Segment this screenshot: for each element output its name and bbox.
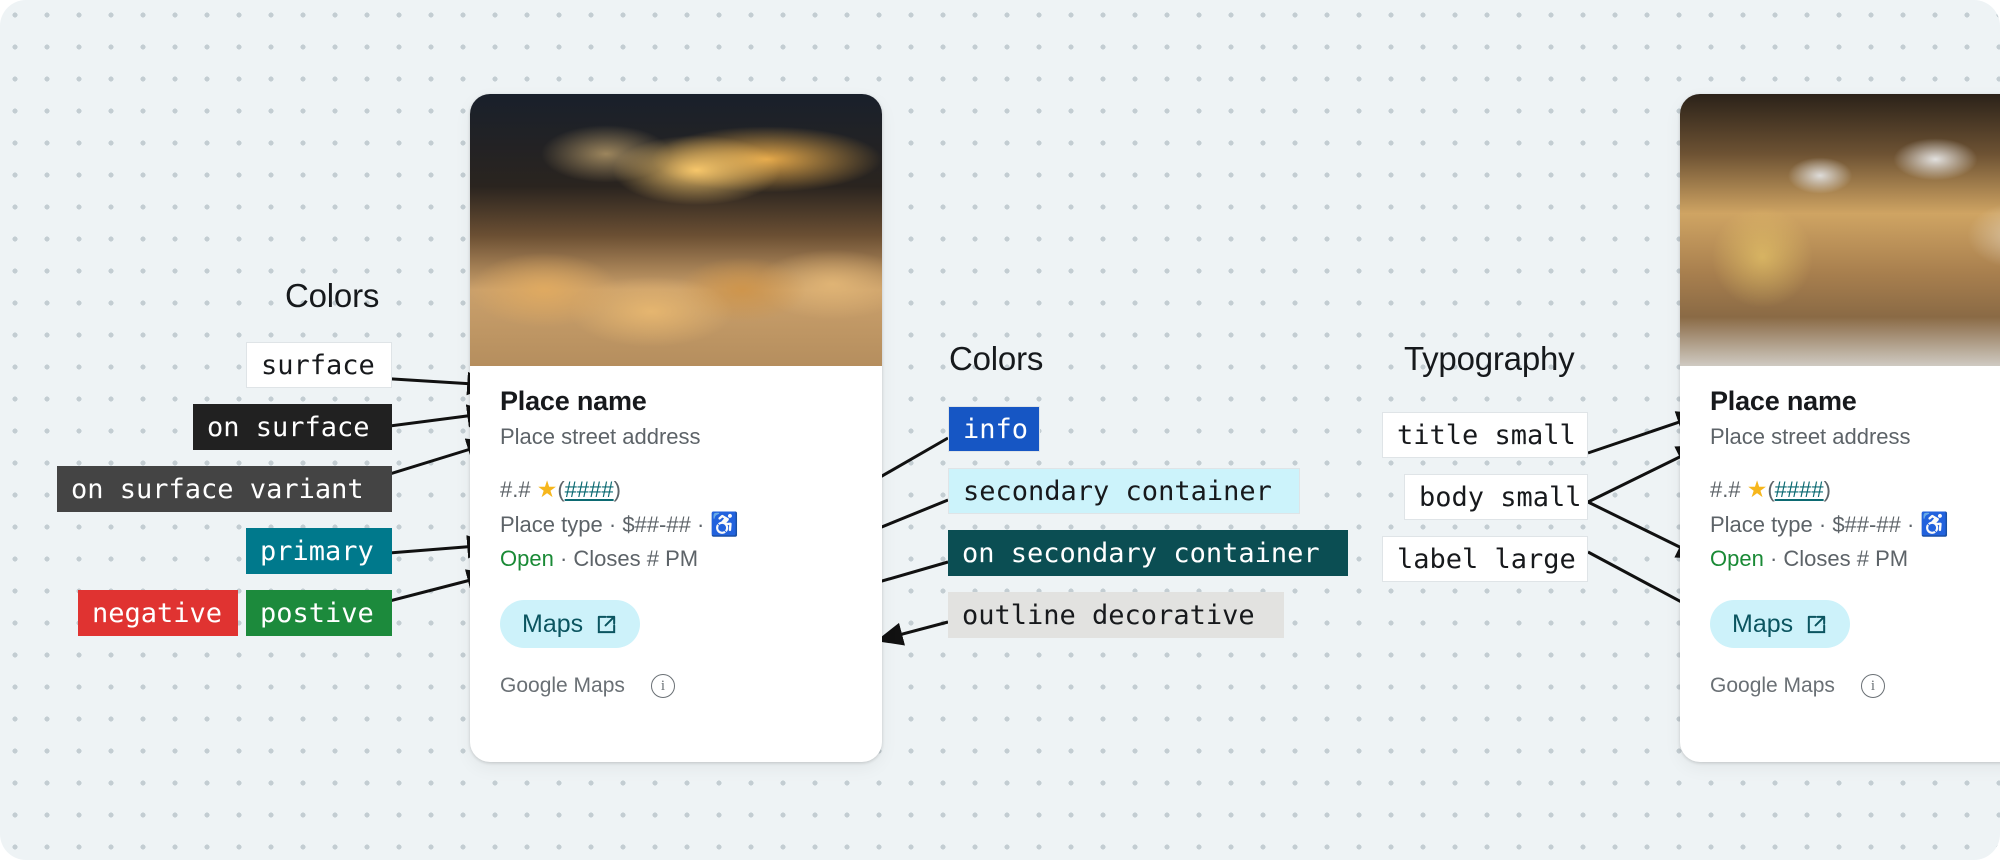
type-chip-label: label large [1397, 546, 1576, 573]
open-status: Open [1710, 546, 1764, 571]
type-chip-body-small[interactable]: body small [1404, 474, 1588, 520]
color-chip-label: postive [260, 600, 374, 627]
place-card-footer: Google Maps i [470, 648, 882, 698]
info-icon-glyph: i [1871, 679, 1875, 694]
place-address: Place street address [500, 423, 852, 452]
place-card-left: Place name Place street address #.# ★(##… [470, 94, 882, 762]
rating-value: #.# [1710, 477, 1741, 502]
wheelchair-icon: ♿ [710, 511, 739, 537]
color-chip-on-surface-variant[interactable]: on surface variant [57, 466, 392, 512]
footer-attribution: Google Maps [500, 674, 625, 698]
color-chip-label: secondary container [963, 478, 1272, 505]
type-chip-label: body small [1419, 484, 1582, 511]
color-chip-label: surface [261, 352, 375, 379]
rating-value: #.# [500, 477, 531, 502]
place-rating-row: #.# ★(####) [1710, 473, 2000, 506]
place-type-row: Place type · $##-## · ♿ [1710, 508, 2000, 541]
place-name: Place name [500, 386, 852, 418]
reviews-count-link[interactable]: #### [565, 477, 614, 502]
price-range: $##-## [1832, 512, 1901, 537]
maps-button-label: Maps [1732, 610, 1793, 639]
info-icon[interactable]: i [1861, 674, 1885, 698]
place-card-body: Place name Place street address #.# ★(##… [1680, 366, 2000, 648]
bakery-pastries-photo [470, 94, 882, 366]
star-icon: ★ [1747, 476, 1768, 502]
place-card-right: Place name Place street address #.# ★(##… [1680, 94, 2000, 762]
color-chip-primary[interactable]: primary [246, 528, 392, 574]
info-icon-glyph: i [661, 679, 665, 694]
color-chip-info[interactable]: info [948, 406, 1040, 452]
place-address: Place street address [1710, 423, 2000, 452]
place-type-row: Place type · $##-## · ♿ [500, 508, 852, 541]
dot-separator: · [609, 512, 616, 537]
open-in-new-icon [1805, 613, 1828, 636]
color-chip-outline-decorative[interactable]: outline decorative [948, 592, 1284, 638]
color-chip-secondary-container[interactable]: secondary container [948, 468, 1300, 514]
reviews-count-link[interactable]: #### [1775, 477, 1824, 502]
dot-separator: · [1819, 512, 1826, 537]
dot-separator: · [1907, 512, 1914, 537]
closing-time: Closes # PM [1783, 546, 1908, 571]
footer-attribution: Google Maps [1710, 674, 1835, 698]
open-in-new-icon [595, 613, 618, 636]
color-chip-label: primary [260, 538, 374, 565]
color-chip-label: on surface [207, 414, 370, 441]
star-icon: ★ [537, 476, 558, 502]
color-chip-label: negative [92, 600, 222, 627]
reviews-paren-open: ( [557, 477, 564, 502]
info-icon[interactable]: i [651, 674, 675, 698]
place-photo-bakery [470, 94, 882, 366]
section-heading-colors-mid: Colors [949, 340, 1043, 378]
maps-button-label: Maps [522, 610, 583, 639]
place-photo-cafe [1680, 94, 2000, 366]
color-chip-surface[interactable]: surface [246, 342, 392, 388]
place-hours-row: Open · Closes # PM [500, 543, 852, 574]
maps-button[interactable]: Maps [500, 600, 640, 648]
price-range: $##-## [622, 512, 691, 537]
wheelchair-icon: ♿ [1920, 511, 1949, 537]
place-card-footer: Google Maps i [1680, 648, 2000, 698]
section-heading-typography: Typography [1404, 340, 1574, 378]
place-type: Place type [1710, 512, 1813, 537]
type-chip-title-small[interactable]: title small [1382, 412, 1588, 458]
color-chip-on-surface[interactable]: on surface [193, 404, 392, 450]
place-name: Place name [1710, 386, 2000, 418]
reviews-paren-open: ( [1767, 477, 1774, 502]
closing-time: Closes # PM [573, 546, 698, 571]
dot-separator: · [560, 546, 567, 571]
color-chip-on-secondary-container[interactable]: on secondary container [948, 530, 1348, 576]
open-status: Open [500, 546, 554, 571]
cafe-interior-photo [1680, 94, 2000, 366]
color-chip-label: info [963, 416, 1028, 443]
type-chip-label: title small [1397, 422, 1576, 449]
color-chip-label: outline decorative [962, 602, 1255, 629]
color-chip-label: on secondary container [962, 540, 1320, 567]
place-type: Place type [500, 512, 603, 537]
color-chip-postive[interactable]: postive [246, 590, 392, 636]
reviews-paren-close: ) [614, 477, 621, 502]
reviews-paren-close: ) [1824, 477, 1831, 502]
place-rating-row: #.# ★(####) [500, 473, 852, 506]
place-hours-row: Open · Closes # PM [1710, 543, 2000, 574]
dot-separator: · [1770, 546, 1777, 571]
canvas: Colors Colors Typography surface on surf… [0, 0, 2000, 860]
place-card-body: Place name Place street address #.# ★(##… [470, 366, 882, 648]
color-chip-negative[interactable]: negative [78, 590, 238, 636]
dot-separator: · [697, 512, 704, 537]
section-heading-colors-left: Colors [285, 277, 379, 315]
type-chip-label-large[interactable]: label large [1382, 536, 1588, 582]
maps-button[interactable]: Maps [1710, 600, 1850, 648]
color-chip-label: on surface variant [71, 476, 364, 503]
